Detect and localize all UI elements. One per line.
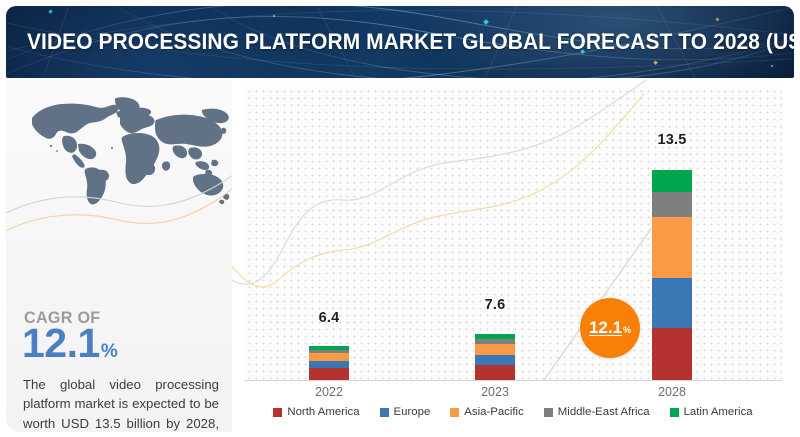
bar-value-2028: 13.5 [632, 132, 712, 148]
legend-label-europe: Europe [394, 406, 431, 418]
bar-value-2022: 6.4 [289, 310, 369, 326]
cagr-percent-sign: % [101, 341, 118, 363]
bar-2022[interactable] [309, 346, 349, 380]
legend-swatch-middle-east-africa [544, 408, 553, 417]
chart-legend: North America Europe Asia-Pacific Middle… [232, 406, 794, 418]
legend-item-latin-america[interactable]: Latin America [670, 406, 753, 418]
left-info-panel: CAGR OF 12.1 % The global video processi… [6, 80, 232, 432]
segment-asia-pacific-2023[interactable] [475, 344, 515, 355]
segment-middle-east-africa-2028[interactable] [652, 192, 692, 217]
segment-asia-pacific-2028[interactable] [652, 217, 692, 278]
cagr-value: 12.1 [22, 323, 100, 364]
left-decorative-waves [6, 140, 232, 270]
legend-item-north-america[interactable]: North America [273, 406, 359, 418]
x-axis-label-2028: 2028 [632, 385, 712, 399]
cagr-value-group: 12.1 % [22, 323, 118, 364]
bar-2028[interactable] [652, 170, 692, 380]
legend-swatch-europe [380, 408, 389, 417]
legend-label-latin-america: Latin America [684, 406, 753, 418]
segment-latin-america-2028[interactable] [652, 170, 692, 192]
segment-europe-2022[interactable] [309, 361, 349, 368]
cagr-badge-percent: % [623, 325, 631, 335]
bar-2023[interactable] [475, 334, 515, 380]
chart-panel: 6.4 7.6 13.5 [232, 80, 794, 432]
legend-item-europe[interactable]: Europe [380, 406, 431, 418]
page-title: VIDEO PROCESSING PLATFORM MARKET GLOBAL … [27, 29, 794, 55]
segment-north-america-2023[interactable] [475, 365, 515, 380]
legend-label-asia-pacific: Asia-Pacific [464, 406, 524, 418]
segment-north-america-2028[interactable] [652, 328, 692, 380]
segment-north-america-2022[interactable] [309, 368, 349, 380]
legend-item-asia-pacific[interactable]: Asia-Pacific [450, 406, 524, 418]
body-card: CAGR OF 12.1 % The global video processi… [6, 80, 794, 432]
segment-europe-2028[interactable] [652, 278, 692, 328]
legend-label-north-america: North America [287, 406, 359, 418]
legend-swatch-north-america [273, 408, 282, 417]
legend-item-middle-east-africa[interactable]: Middle-East Africa [544, 406, 650, 418]
segment-europe-2023[interactable] [475, 355, 515, 365]
x-axis-line [244, 380, 782, 381]
cagr-badge[interactable]: 12.1 % [580, 298, 640, 358]
legend-label-middle-east-africa: Middle-East Africa [558, 406, 650, 418]
cagr-badge-content: 12.1 % [589, 318, 631, 338]
cagr-badge-value: 12.1 [589, 318, 622, 338]
legend-swatch-latin-america [670, 408, 679, 417]
x-axis-label-2023: 2023 [455, 385, 535, 399]
x-axis-label-2022: 2022 [289, 385, 369, 399]
segment-asia-pacific-2022[interactable] [309, 353, 349, 361]
legend-swatch-asia-pacific [450, 408, 459, 417]
infographic-root: VIDEO PROCESSING PLATFORM MARKET GLOBAL … [0, 0, 800, 437]
bar-value-2023: 7.6 [455, 297, 535, 313]
header-banner: VIDEO PROCESSING PLATFORM MARKET GLOBAL … [6, 6, 794, 78]
description-text: The global video processing platform mar… [23, 375, 219, 432]
